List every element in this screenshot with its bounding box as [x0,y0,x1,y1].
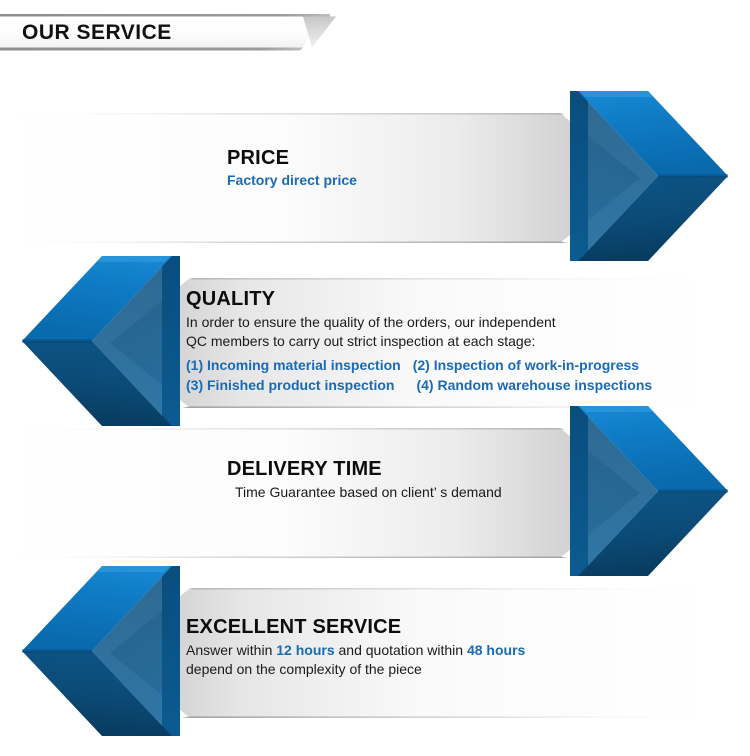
chevron-right-3d-icon [570,85,730,267]
quality-inspection-row-2: (3) Finished product inspection(4) Rando… [186,376,652,396]
excellent-line-2: depend on the complexity of the piece [186,660,525,679]
chevron-right-3d-icon [570,400,730,582]
excellent-line-1: Answer within 12 hours and quotation wit… [186,641,525,660]
excellent-line-1-part-b: and quotation within [335,642,467,658]
delivery-line-1: Time Guarantee based on client’ s demand [235,483,502,502]
chevron-left-3d-icon [20,560,180,742]
quality-item-2: (2) Inspection of work-in-progress [413,357,639,373]
delivery-text-block: DELIVERY TIME Time Guarantee based on cl… [227,458,502,502]
price-subtitle: Factory direct price [227,172,357,188]
service-row-delivery: DELIVERY TIME Time Guarantee based on cl… [0,400,750,582]
delivery-heading: DELIVERY TIME [227,458,502,480]
quality-item-1: (1) Incoming material inspection [186,357,401,373]
page-title: OUR SERVICE [22,21,172,45]
excellent-heading: EXCELLENT SERVICE [186,616,525,638]
excellent-highlight-12-hours: 12 hours [276,642,334,658]
excellent-line-1-part-a: Answer within [186,642,276,658]
quality-item-3: (3) Finished product inspection [186,377,394,393]
quality-item-4: (4) Random warehouse inspections [416,377,652,393]
price-text-block: PRICE Factory direct price [227,147,357,188]
service-row-excellent: EXCELLENT SERVICE Answer within 12 hours… [0,560,750,742]
quality-line-1: In order to ensure the quality of the or… [186,313,652,332]
price-heading: PRICE [227,147,357,169]
service-infographic: OUR SERVICE [0,0,750,756]
service-row-price: PRICE Factory direct price [0,85,750,267]
excellent-highlight-48-hours: 48 hours [467,642,525,658]
quality-heading: QUALITY [186,288,652,310]
quality-text-block: QUALITY In order to ensure the quality o… [186,288,652,396]
quality-line-2: QC members to carry out strict inspectio… [186,332,652,351]
header-banner: OUR SERVICE [0,14,340,52]
excellent-text-block: EXCELLENT SERVICE Answer within 12 hours… [186,616,525,679]
quality-inspection-row-1: (1) Incoming material inspection(2) Insp… [186,356,652,376]
